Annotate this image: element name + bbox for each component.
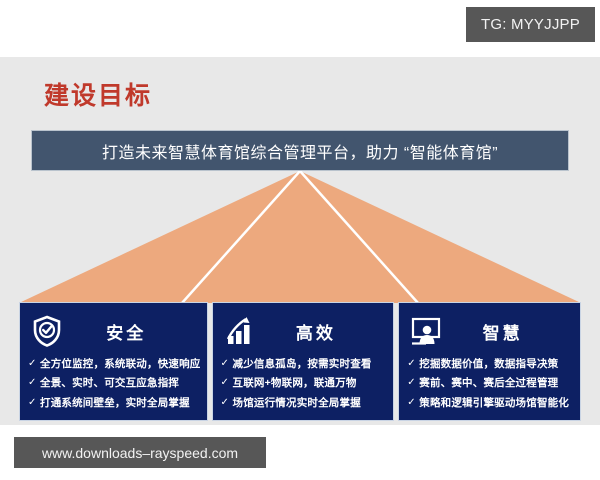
card-header: 智慧 [407, 311, 574, 351]
check-icon: ✓ [407, 375, 419, 391]
bullet-text: 互联网+物联网，联通万物 [233, 375, 388, 391]
card-bullet-list: ✓ 挖掘数据价值，数据指导决策 ✓ 赛前、赛中、赛后全过程管理 ✓ 策略和逻辑引… [407, 356, 574, 411]
site-watermark: www.downloads–rayspeed.com [14, 437, 266, 468]
card-efficiency[interactable]: 高效 ✓ 减少信息孤岛，按需实时查看 ✓ 互联网+物联网，联通万物 ✓ 场馆运行… [212, 302, 395, 421]
list-item: ✓ 互联网+物联网，联通万物 [221, 375, 388, 391]
bullet-text: 赛前、赛中、赛后全过程管理 [419, 375, 574, 391]
tg-watermark-label: TG: MYYJJPP [481, 16, 580, 33]
pillar-cards: 安全 ✓ 全方位监控，系统联动，快速响应 ✓ 全景、实时、可交互应急指挥 ✓ 打… [19, 302, 581, 421]
bullet-text: 减少信息孤岛，按需实时查看 [233, 356, 388, 372]
bullet-text: 全景、实时、可交互应急指挥 [40, 375, 201, 391]
list-item: ✓ 减少信息孤岛，按需实时查看 [221, 356, 388, 372]
card-bullet-list: ✓ 全方位监控，系统联动，快速响应 ✓ 全景、实时、可交互应急指挥 ✓ 打通系统… [28, 356, 201, 411]
card-security[interactable]: 安全 ✓ 全方位监控，系统联动，快速响应 ✓ 全景、实时、可交互应急指挥 ✓ 打… [19, 302, 208, 421]
card-title: 智慧 [445, 319, 574, 344]
slide-canvas: 建设目标 打造未来智慧体育馆综合管理平台，助力 “智能体育馆” 安全 [0, 57, 600, 425]
check-icon: ✓ [221, 375, 233, 391]
bullet-text: 打通系统间壁垒，实时全局掌握 [40, 395, 201, 411]
check-icon: ✓ [28, 375, 40, 391]
list-item: ✓ 策略和逻辑引擎驱动场馆智能化 [407, 395, 574, 411]
card-title: 高效 [259, 319, 388, 344]
bar-chart-growth-icon [221, 312, 259, 350]
headline-banner: 打造未来智慧体育馆综合管理平台，助力 “智能体育馆” [31, 130, 569, 171]
card-header: 高效 [221, 311, 388, 351]
list-item: ✓ 全景、实时、可交互应急指挥 [28, 375, 201, 391]
roof-graphic [19, 171, 581, 303]
shield-check-icon [28, 312, 66, 350]
card-intelligence[interactable]: 智慧 ✓ 挖掘数据价值，数据指导决策 ✓ 赛前、赛中、赛后全过程管理 ✓ 策略和… [398, 302, 581, 421]
bullet-text: 全方位监控，系统联动，快速响应 [40, 356, 201, 372]
bullet-text: 场馆运行情况实时全局掌握 [233, 395, 388, 411]
presentation-person-icon [407, 312, 445, 350]
check-icon: ✓ [221, 395, 233, 411]
card-header: 安全 [28, 311, 201, 351]
check-icon: ✓ [28, 395, 40, 411]
list-item: ✓ 挖掘数据价值，数据指导决策 [407, 356, 574, 372]
check-icon: ✓ [28, 356, 40, 372]
check-icon: ✓ [407, 356, 419, 372]
page-title: 建设目标 [44, 76, 152, 112]
list-item: ✓ 场馆运行情况实时全局掌握 [221, 395, 388, 411]
list-item: ✓ 全方位监控，系统联动，快速响应 [28, 356, 201, 372]
check-icon: ✓ [221, 356, 233, 372]
site-watermark-label: www.downloads–rayspeed.com [42, 445, 238, 461]
bullet-text: 策略和逻辑引擎驱动场馆智能化 [419, 395, 574, 411]
bullet-text: 挖掘数据价值，数据指导决策 [419, 356, 574, 372]
list-item: ✓ 赛前、赛中、赛后全过程管理 [407, 375, 574, 391]
card-bullet-list: ✓ 减少信息孤岛，按需实时查看 ✓ 互联网+物联网，联通万物 ✓ 场馆运行情况实… [221, 356, 388, 411]
check-icon: ✓ [407, 395, 419, 411]
headline-text: 打造未来智慧体育馆综合管理平台，助力 “智能体育馆” [102, 139, 498, 163]
tg-watermark-badge: TG: MYYJJPP [466, 7, 595, 42]
card-title: 安全 [66, 319, 201, 344]
list-item: ✓ 打通系统间壁垒，实时全局掌握 [28, 395, 201, 411]
